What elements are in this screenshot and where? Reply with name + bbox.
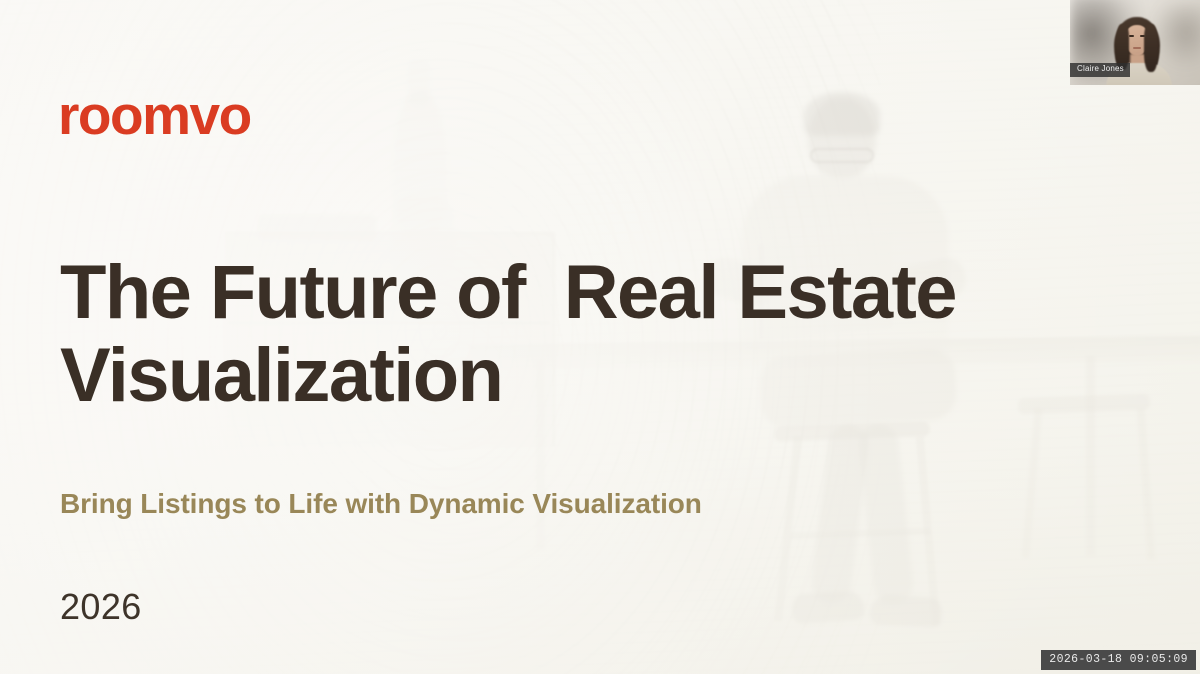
- slide-subtitle: Bring Listings to Life with Dynamic Visu…: [60, 488, 702, 520]
- recording-timestamp: 2026-03-18 09:05:09: [1041, 650, 1196, 670]
- webcam-participant-name: Claire Jones: [1070, 63, 1130, 77]
- slide-title: The Future of Real Estate Visualization: [60, 252, 1100, 418]
- presentation-slide: roomvo The Future of Real Estate Visuali…: [0, 0, 1200, 674]
- slide-content: roomvo The Future of Real Estate Visuali…: [0, 0, 1200, 674]
- webcam-overlay[interactable]: Claire Jones: [1070, 0, 1200, 85]
- webcam-person-hair-front-right: [1144, 24, 1158, 72]
- roomvo-logo: roomvo: [58, 88, 251, 143]
- slide-year: 2026: [60, 586, 142, 628]
